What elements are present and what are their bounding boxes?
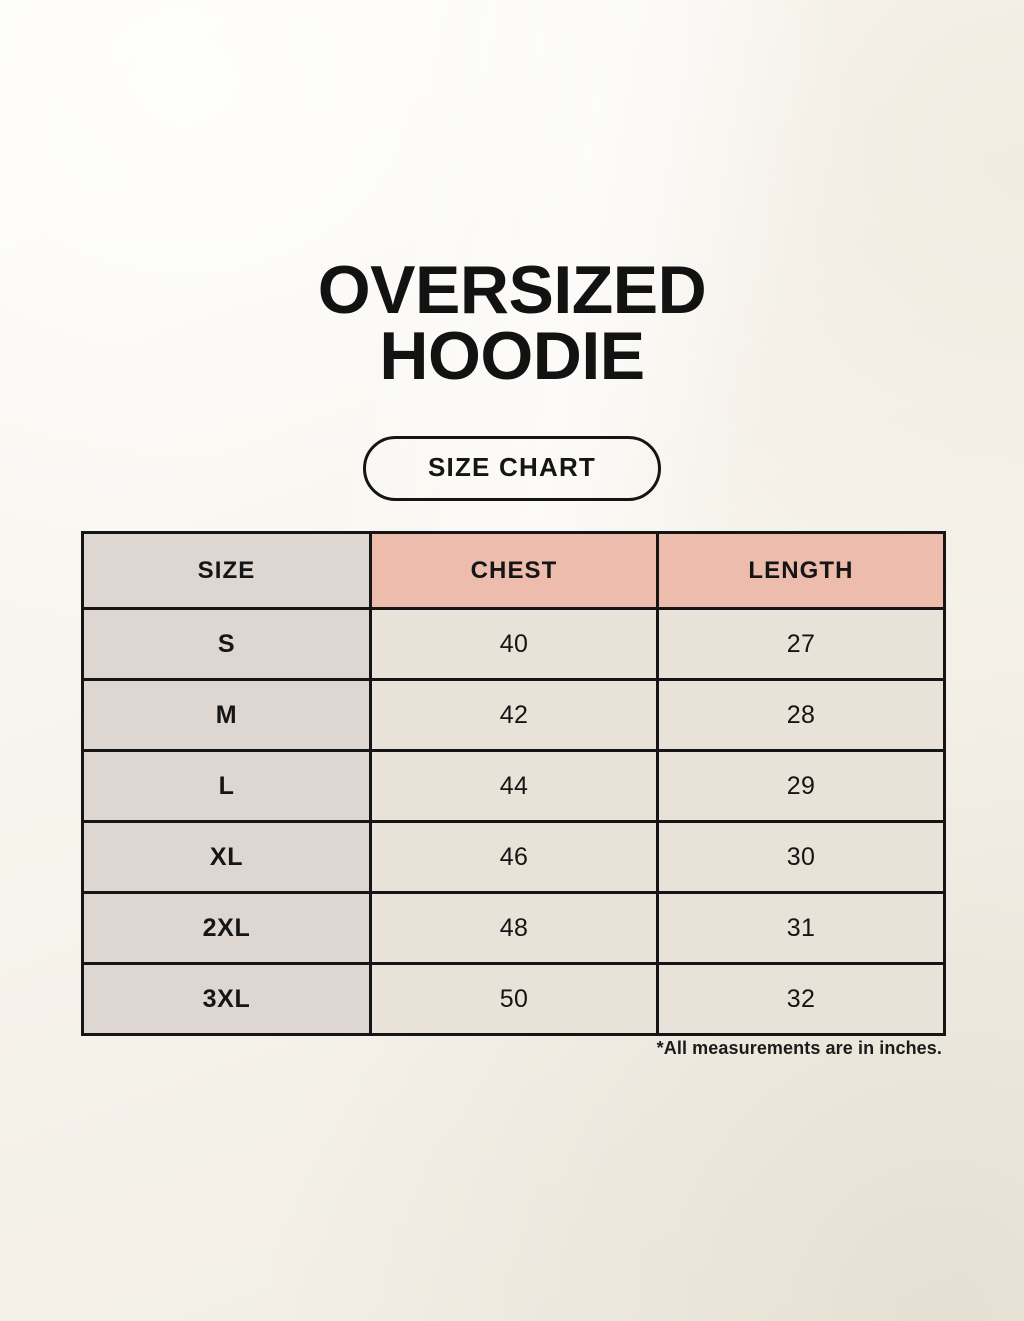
cell-chest: 44 — [371, 751, 658, 822]
table-row: S 40 27 — [83, 609, 945, 680]
cell-size: M — [83, 680, 371, 751]
cell-size: 3XL — [83, 964, 371, 1035]
table-header-row: SIZE CHEST LENGTH — [83, 533, 945, 609]
size-chart-badge: SIZE CHART — [363, 436, 661, 501]
size-chart-table: SIZE CHEST LENGTH S 40 27 M 42 28 L 44 2… — [81, 531, 946, 1036]
table-row: 3XL 50 32 — [83, 964, 945, 1035]
column-header-chest: CHEST — [371, 533, 658, 609]
cell-length: 32 — [658, 964, 945, 1035]
title-line-1: OVERSIZED — [0, 258, 1024, 324]
cell-chest: 46 — [371, 822, 658, 893]
table-row: L 44 29 — [83, 751, 945, 822]
column-header-size: SIZE — [83, 533, 371, 609]
cell-length: 28 — [658, 680, 945, 751]
table-row: M 42 28 — [83, 680, 945, 751]
cell-size: L — [83, 751, 371, 822]
cell-chest: 42 — [371, 680, 658, 751]
cell-length: 29 — [658, 751, 945, 822]
cell-size: XL — [83, 822, 371, 893]
title-line-2: HOODIE — [0, 324, 1024, 390]
table-row: 2XL 48 31 — [83, 893, 945, 964]
cell-length: 30 — [658, 822, 945, 893]
table-header: SIZE CHEST LENGTH — [83, 533, 945, 609]
measurements-footnote: *All measurements are in inches. — [81, 1038, 942, 1059]
cell-size: 2XL — [83, 893, 371, 964]
table-row: XL 46 30 — [83, 822, 945, 893]
size-chart-page: OVERSIZED HOODIE SIZE CHART SIZE CHEST L… — [0, 0, 1024, 1321]
column-header-length: LENGTH — [658, 533, 945, 609]
cell-chest: 40 — [371, 609, 658, 680]
cell-size: S — [83, 609, 371, 680]
badge-row: SIZE CHART — [0, 436, 1024, 501]
page-title: OVERSIZED HOODIE — [0, 258, 1024, 390]
cell-chest: 50 — [371, 964, 658, 1035]
cell-length: 31 — [658, 893, 945, 964]
cell-chest: 48 — [371, 893, 658, 964]
cell-length: 27 — [658, 609, 945, 680]
table-body: S 40 27 M 42 28 L 44 29 XL 46 30 2XL 48 — [83, 609, 945, 1035]
